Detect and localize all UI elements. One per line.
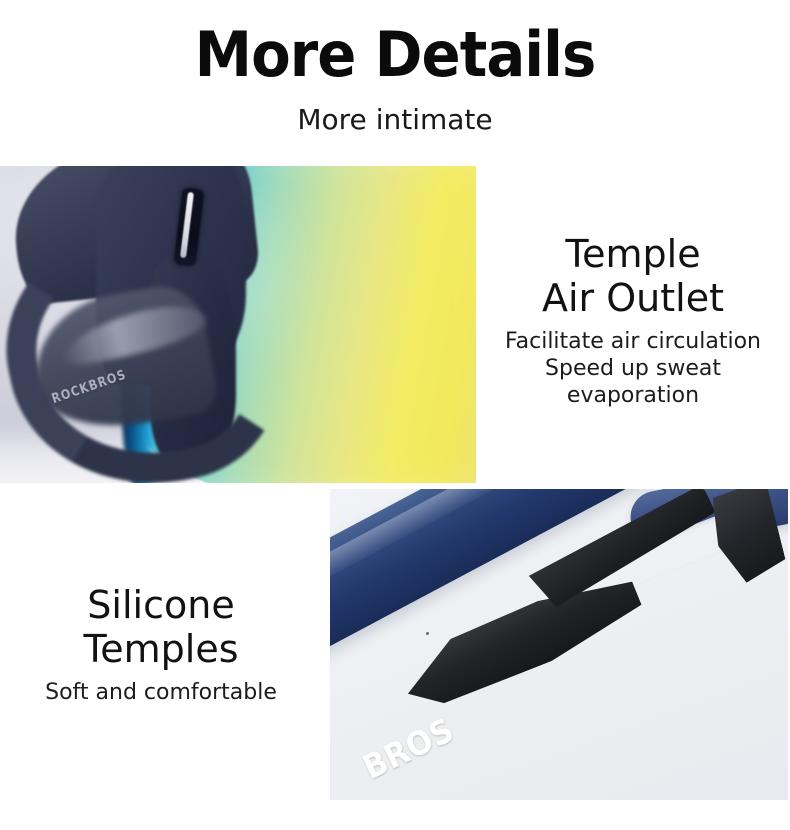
feature-description-line-1: Facilitate air circulation [476, 329, 790, 356]
feature-heading-line-1: Temple [476, 232, 790, 276]
feature-heading: Silicone Temples [0, 583, 322, 671]
page-subtitle: More intimate [0, 103, 790, 136]
photo-speck [426, 632, 429, 635]
product-photo-silicone-temple: BROS [330, 489, 788, 800]
page-title: More Details [28, 22, 763, 87]
feature-description-line-2: Speed up sweat evaporation [476, 356, 790, 410]
feature-block-temple-air-outlet: Temple Air Outlet Facilitate air circula… [476, 232, 790, 410]
feature-heading-line-1: Silicone [0, 583, 322, 627]
header-banner: More Details More intimate [0, 0, 790, 165]
feature-description: Soft and comfortable [0, 680, 322, 707]
feature-heading: Temple Air Outlet [476, 232, 790, 320]
feature-block-silicone-temples: Silicone Temples Soft and comfortable [0, 583, 322, 707]
feature-heading-line-2: Temples [0, 627, 322, 671]
feature-description-line-1: Soft and comfortable [0, 680, 322, 707]
feature-heading-line-2: Air Outlet [476, 276, 790, 320]
product-photo-temple-air-outlet: ROCKBROS [0, 166, 476, 483]
feature-description: Facilitate air circulation Speed up swea… [476, 329, 790, 409]
